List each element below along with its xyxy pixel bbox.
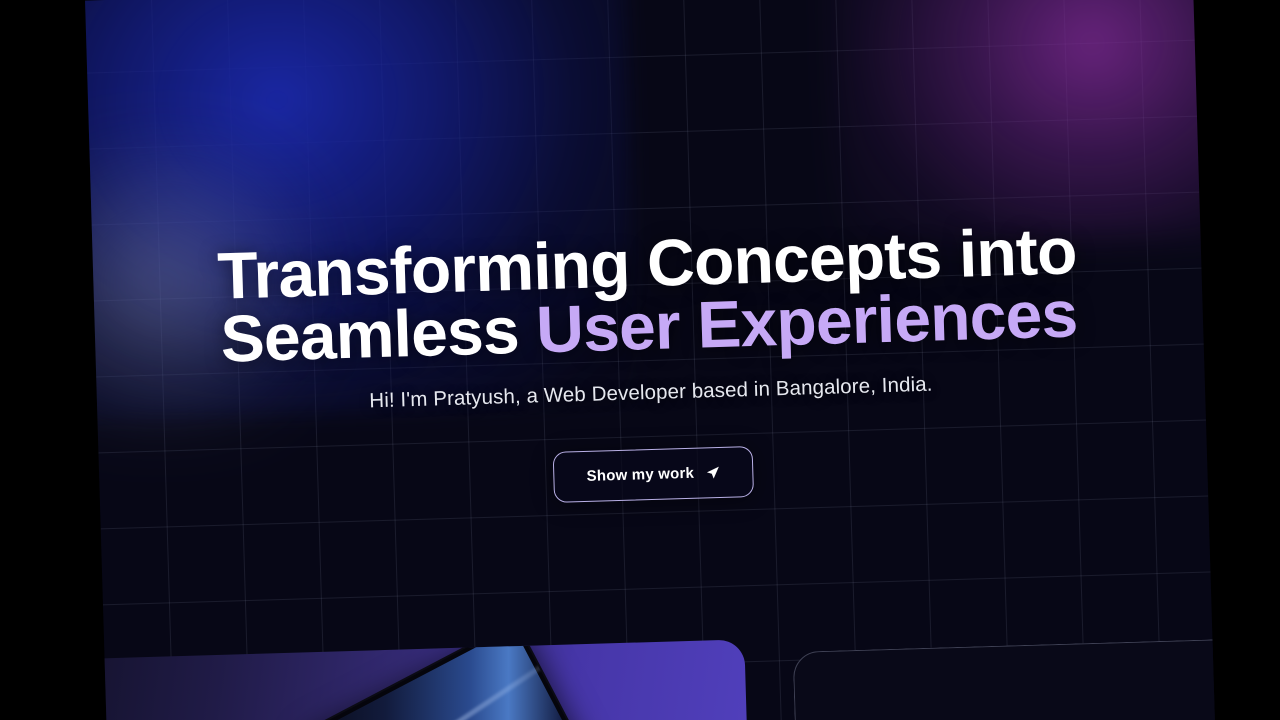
screen-glint [294,639,596,720]
send-arrow-icon [705,465,720,480]
dark-project-card[interactable] [793,638,1215,720]
show-my-work-label: Show my work [586,464,694,484]
phone-mockup [293,639,632,720]
show-my-work-button[interactable]: Show my work [553,446,754,503]
purple-glow-decoration [827,0,1215,248]
page-title: Transforming Concepts into Seamless User… [92,216,1203,376]
headline-line-2-accent: User Experiences [535,277,1078,367]
portfolio-hero-page: Transforming Concepts into Seamless User… [85,0,1215,720]
headline-line-2-plain: Seamless [220,293,538,376]
hero-section: Transforming Concepts into Seamless User… [92,216,1207,516]
screenshot-viewport: Transforming Concepts into Seamless User… [0,0,1280,720]
phone-screen [301,639,624,720]
